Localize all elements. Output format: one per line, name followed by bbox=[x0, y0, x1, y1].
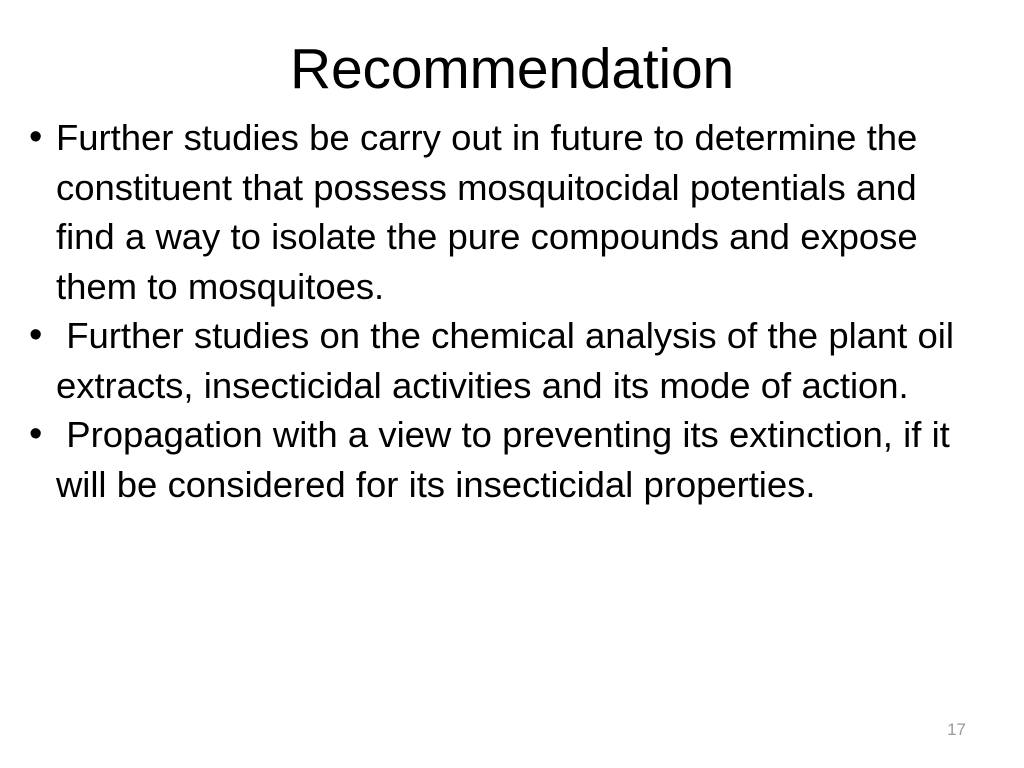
bullet-point-icon: • bbox=[24, 113, 56, 163]
list-item: • Propagation with a view to preventing … bbox=[24, 410, 1000, 509]
bullet-item-text: Further studies on the chemical analysis… bbox=[56, 311, 982, 410]
slide-title: Recommendation bbox=[0, 36, 1024, 102]
bullet-list: • Further studies be carry out in future… bbox=[24, 113, 1000, 509]
bullet-point-icon: • bbox=[24, 311, 56, 361]
bullet-point-icon: • bbox=[24, 410, 56, 460]
bullet-item-text: Propagation with a view to preventing it… bbox=[56, 410, 982, 509]
list-item: • Further studies be carry out in future… bbox=[24, 113, 1000, 311]
list-item: • Further studies on the chemical analys… bbox=[24, 311, 1000, 410]
bullet-item-text: Further studies be carry out in future t… bbox=[56, 113, 982, 311]
presentation-slide: Recommendation • Further studies be carr… bbox=[0, 0, 1024, 768]
slide-page-number: 17 bbox=[947, 720, 966, 740]
